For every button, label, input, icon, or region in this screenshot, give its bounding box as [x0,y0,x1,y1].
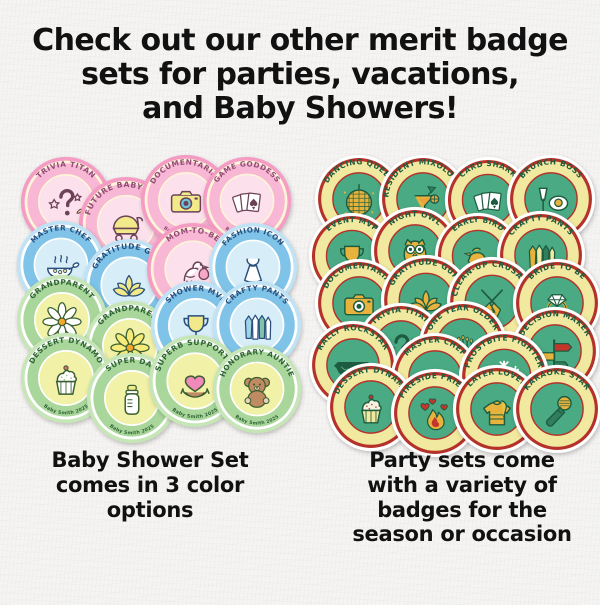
caption-party-line-1: Party sets come [312,448,600,473]
caption-baby-line-1: Baby Shower Set [0,448,300,473]
badge-illustration [232,193,260,212]
caption-party-line-2: with a variety of [312,473,600,498]
caption-baby-line-3: options [0,498,300,523]
party-badge-cluster: DANCING QUEEN RESIDENT MIXOLOGIST [308,150,596,430]
headline-line-3: and Baby Showers! [0,92,600,126]
badge-honorary-auntie[interactable]: HONORARY AUNTIE Baby Smith 2025 [212,344,302,434]
caption-baby-line-2: comes in 3 color [0,473,300,498]
headline-line-2: sets for parties, vacations, [0,58,600,92]
badge-karaoke-star[interactable]: KARAOKE STAR [512,364,600,454]
caption-party-line-4: season or occasion [312,522,600,547]
baby-shower-badge-cluster: TRIVIA TITAN Baby Smith 2025 FUTURE BABY… [6,150,296,430]
captions-row: Baby Shower Set comes in 3 color options… [0,448,600,547]
badge-illustration [245,315,270,339]
page-headline: Check out our other merit badge sets for… [0,24,600,126]
caption-party-line-3: badges for the [312,498,600,523]
headline-line-1: Check out our other merit badge [0,24,600,58]
badge-illustration [172,192,201,212]
caption-baby-shower-set: Baby Shower Set comes in 3 color options [0,448,308,547]
badge-illustration [474,192,501,211]
caption-party-set: Party sets come with a variety of badges… [308,448,600,547]
